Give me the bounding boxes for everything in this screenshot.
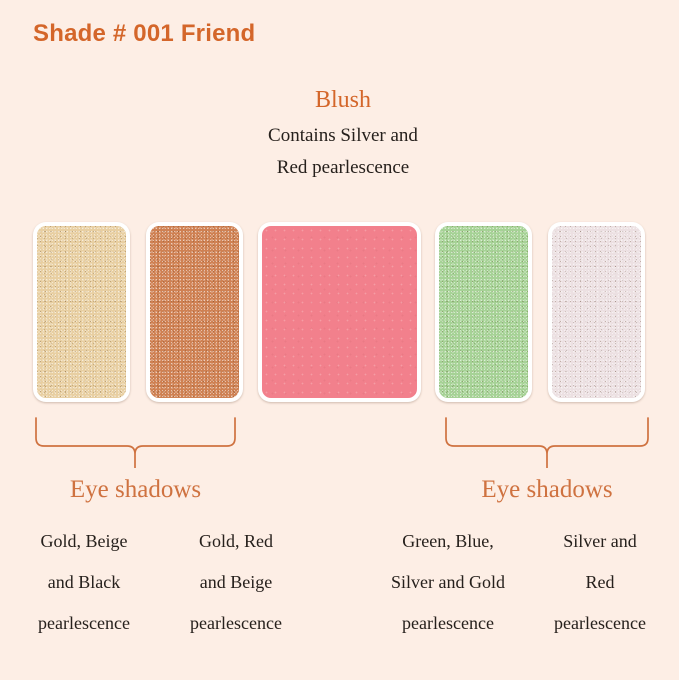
description-line: and Black <box>8 573 160 591</box>
description-line: pearlescence <box>160 614 312 632</box>
group-bracket-right <box>443 416 651 470</box>
description-line: Red <box>528 573 672 591</box>
swatch-fill <box>262 226 417 398</box>
description-line: pearlescence <box>8 614 160 632</box>
group-label-eye-shadows-right: Eye shadows <box>443 476 651 504</box>
bracket-path <box>36 418 235 468</box>
swatch-blush-pink[interactable] <box>258 222 421 402</box>
swatch-fill <box>37 226 126 398</box>
swatch-description-3: Green, Blue, Silver and Gold pearlescenc… <box>368 532 528 632</box>
swatch-gold-red-beige[interactable] <box>146 222 243 402</box>
group-bracket-left <box>33 416 238 470</box>
swatch-green[interactable] <box>435 222 532 402</box>
page-title: Shade # 001 Friend <box>33 20 255 48</box>
blush-description-line-2: Red pearlescence <box>198 158 488 177</box>
description-line: Green, Blue, <box>368 532 528 550</box>
description-line: Silver and Gold <box>368 573 528 591</box>
swatch-fill <box>150 226 239 398</box>
description-line: pearlescence <box>528 614 672 632</box>
blush-info-block: Blush Contains Silver and Red pearlescen… <box>198 88 488 177</box>
swatch-row <box>0 222 679 404</box>
blush-description-line-1: Contains Silver and <box>198 126 488 145</box>
swatch-description-2: Gold, Red and Beige pearlescence <box>160 532 312 632</box>
description-line: Gold, Beige <box>8 532 160 550</box>
swatch-fill <box>552 226 641 398</box>
description-line: and Beige <box>160 573 312 591</box>
swatch-description-1: Gold, Beige and Black pearlescence <box>8 532 160 632</box>
group-label-eye-shadows-left: Eye shadows <box>33 476 238 504</box>
swatch-fill <box>439 226 528 398</box>
description-line: Gold, Red <box>160 532 312 550</box>
description-line: pearlescence <box>368 614 528 632</box>
swatch-silver-red[interactable] <box>548 222 645 402</box>
swatch-gold-beige-black[interactable] <box>33 222 130 402</box>
description-line: Silver and <box>528 532 672 550</box>
swatch-description-4: Silver and Red pearlescence <box>528 532 672 632</box>
blush-heading: Blush <box>198 88 488 112</box>
bracket-path <box>446 418 648 468</box>
